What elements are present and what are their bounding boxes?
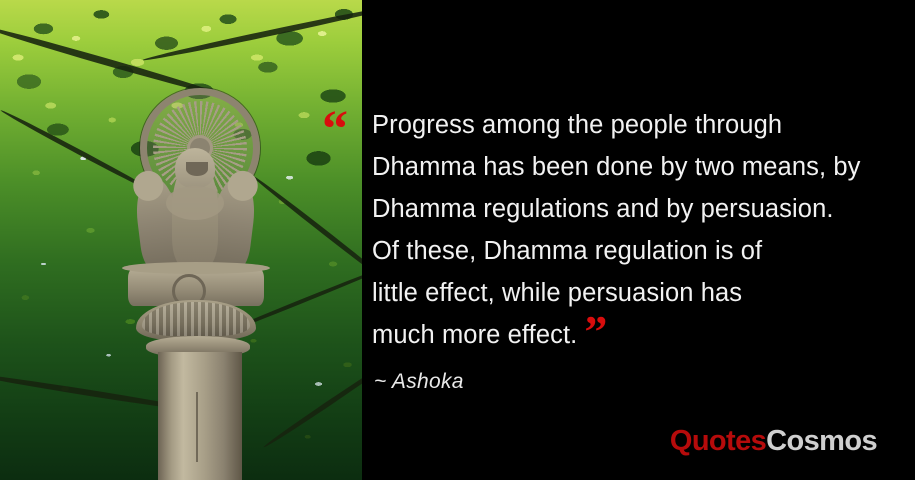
- closing-quote-icon: ”: [584, 306, 605, 357]
- pillar-lotus-bell: [136, 300, 256, 340]
- quote-panel: “ Progress among the people through Dham…: [362, 0, 915, 480]
- shaft-crack: [196, 392, 198, 462]
- opening-quote-icon: “: [322, 104, 346, 156]
- ashoka-pillar: [0, 0, 362, 480]
- ashoka-pillar-photo: [0, 0, 362, 480]
- lotus-flutes: [142, 302, 250, 336]
- pillar-shaft: [158, 352, 242, 480]
- quote-text: Progress among the people through Dhamma…: [372, 104, 915, 356]
- abacus-rim: [122, 262, 270, 274]
- lion-head: [175, 148, 215, 188]
- lion-mane: [166, 186, 224, 220]
- quotescosmos-logo[interactable]: QuotesCosmos: [670, 427, 877, 456]
- logo-word-cosmos: Cosmos: [766, 425, 877, 457]
- lion-muzzle: [186, 162, 208, 176]
- logo-word-quotes: Quotes: [670, 425, 766, 457]
- quote-body: Progress among the people through Dhamma…: [372, 111, 860, 349]
- lion-center: [172, 160, 218, 268]
- quote-card: “ Progress among the people through Dham…: [0, 0, 915, 480]
- attribution: ~ Ashoka: [374, 370, 464, 394]
